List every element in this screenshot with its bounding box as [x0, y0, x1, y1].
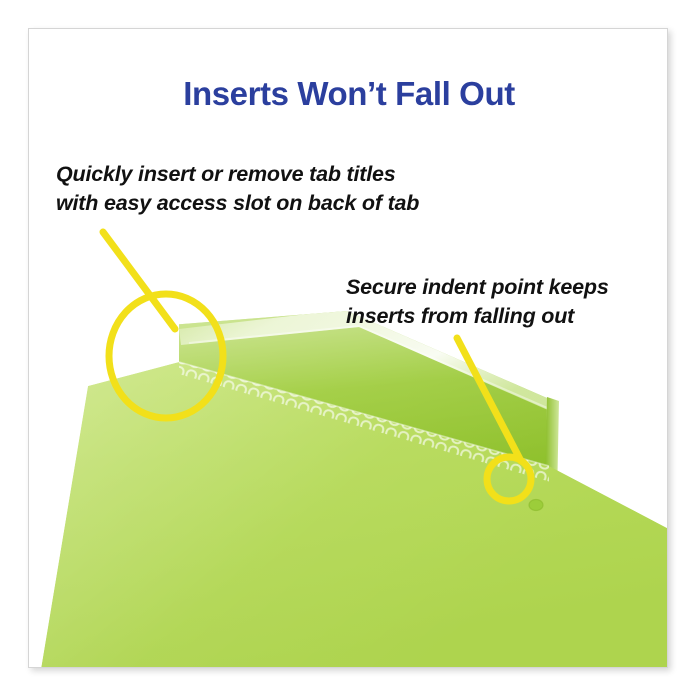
annotation-slot-access: Quickly insert or remove tab titles with… [56, 160, 419, 218]
annotation-slot-access-line2: with easy access slot on back of tab [56, 189, 419, 218]
product-photograph [29, 29, 668, 668]
annotation-secure-indent: Secure indent point keeps inserts from f… [346, 273, 609, 331]
screenshot-canvas: Inserts Won’t Fall Out Quickly insert or… [0, 0, 700, 700]
annotation-secure-indent-line2: inserts from falling out [346, 302, 609, 331]
annotation-slot-access-line1: Quickly insert or remove tab titles [56, 160, 419, 189]
secure-indent-point [529, 500, 543, 511]
product-photo-frame: Inserts Won’t Fall Out Quickly insert or… [28, 28, 668, 668]
annotation-secure-indent-line1: Secure indent point keeps [346, 273, 609, 302]
page-title: Inserts Won’t Fall Out [29, 75, 668, 113]
